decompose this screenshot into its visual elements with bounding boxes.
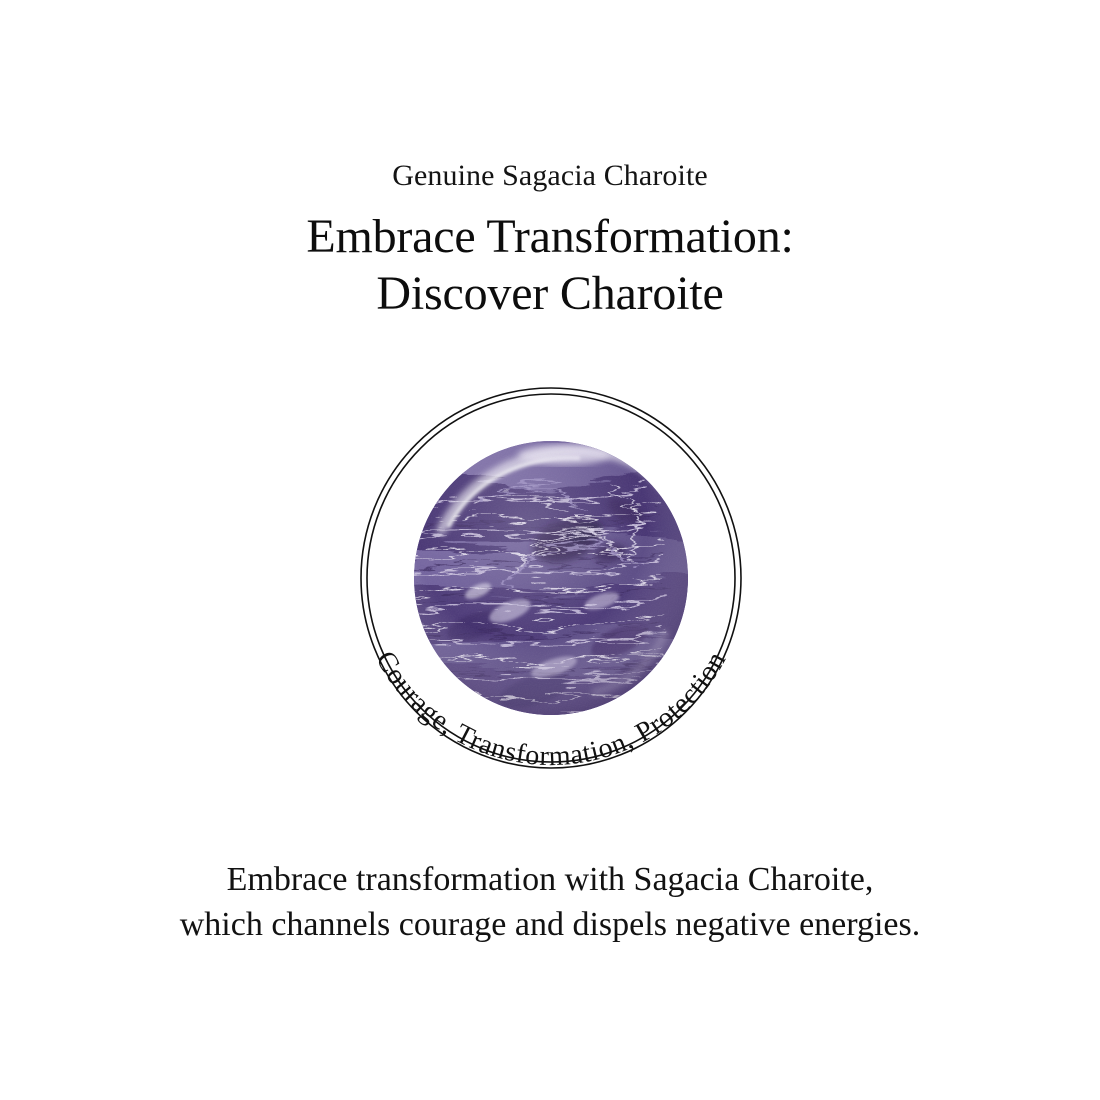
page-title: Embrace Transformation: Discover Charoit… — [0, 209, 1100, 322]
eyebrow-label: Genuine Sagacia Charoite — [0, 158, 1100, 193]
header-text-block: Genuine Sagacia Charoite Embrace Transfo… — [0, 158, 1100, 323]
charoite-stone-image — [414, 441, 688, 715]
description-line-1: Embrace transformation with Sagacia Char… — [0, 858, 1100, 903]
description-text: Embrace transformation with Sagacia Char… — [0, 858, 1100, 948]
headline-line-2: Discover Charoite — [0, 266, 1100, 323]
description-line-2: which channels courage and dispels negat… — [0, 903, 1100, 948]
product-card: Genuine Sagacia Charoite Embrace Transfo… — [0, 0, 1100, 1100]
headline-line-1: Embrace Transformation: — [0, 209, 1100, 266]
charoite-texture — [414, 441, 688, 715]
